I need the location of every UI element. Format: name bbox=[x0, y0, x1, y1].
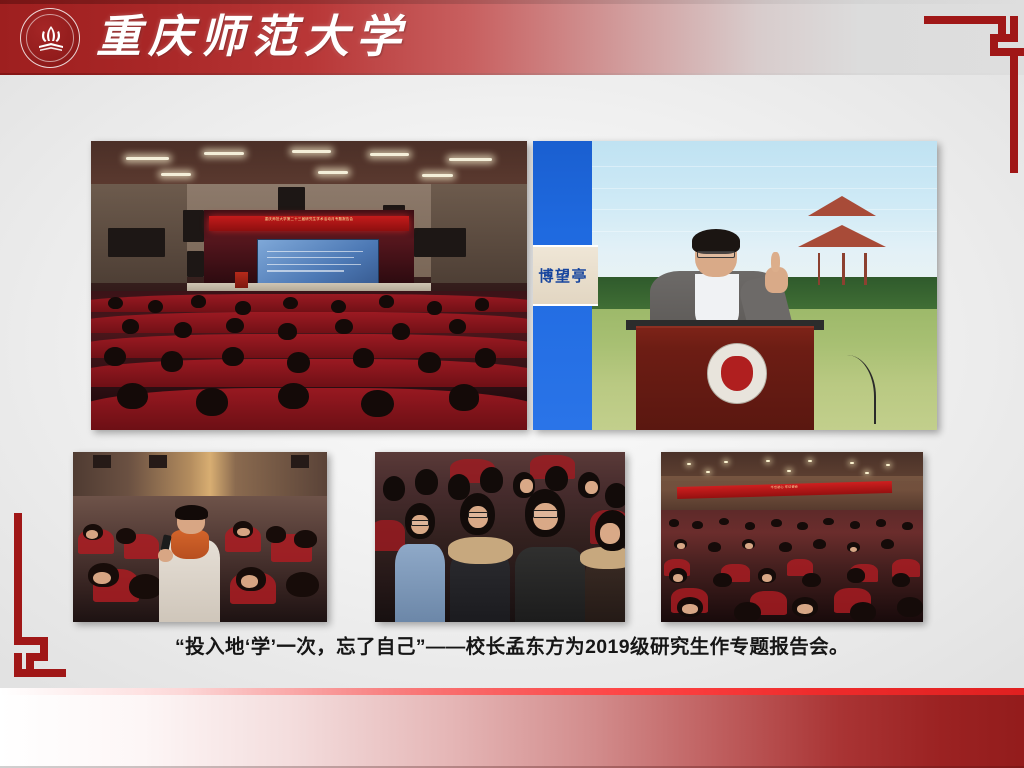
projection-screen bbox=[257, 239, 379, 288]
screen-label-text: 博望亭 bbox=[539, 265, 589, 286]
stage-banner: 重庆师范大学第二十三届研究生学术活动月专题报告会 bbox=[209, 216, 410, 230]
seated-students-scene bbox=[375, 452, 625, 622]
audience bbox=[661, 510, 923, 622]
photo-auditorium-wide[interactable]: 重庆师范大学第二十三届研究生学术活动月专题报告会 bbox=[91, 141, 527, 430]
stage-banner-text: 重庆师范大学第二十三届研究生学术活动月专题报告会 bbox=[209, 217, 410, 222]
speaker-glasses bbox=[697, 251, 735, 259]
packed-hall-scene: 不忘初心 牢记使命 bbox=[661, 452, 923, 622]
questioner-hair bbox=[175, 505, 208, 520]
slide-caption: “投入地‘学’一次，忘了自己”——校长孟东方为2019级研究生作专题报告会。 bbox=[0, 630, 1024, 659]
footer-accent-stripe bbox=[0, 688, 1024, 695]
auditorium-scene: 重庆师范大学第二十三届研究生学术活动月专题报告会 bbox=[91, 141, 527, 430]
podium-university-seal-icon bbox=[707, 343, 768, 404]
page-footer bbox=[0, 688, 1024, 768]
slide-root: 重庆师范大学 bbox=[0, 0, 1024, 768]
photo-student-asking-question[interactable] bbox=[73, 452, 327, 622]
podium bbox=[235, 272, 248, 288]
photo-packed-hall[interactable]: 不忘初心 牢记使命 bbox=[661, 452, 923, 622]
photo-speaker-at-podium[interactable]: 博望亭 bbox=[533, 141, 937, 430]
speaker-scene: 博望亭 bbox=[533, 141, 937, 430]
photo-students-seated[interactable] bbox=[375, 452, 625, 622]
audience bbox=[91, 291, 527, 430]
pavilion-image bbox=[792, 190, 893, 291]
screen-label-box: 博望亭 bbox=[533, 245, 598, 306]
questioner-scarf bbox=[171, 530, 209, 559]
speaker-raised-finger bbox=[771, 252, 780, 272]
question-scene bbox=[73, 452, 327, 622]
